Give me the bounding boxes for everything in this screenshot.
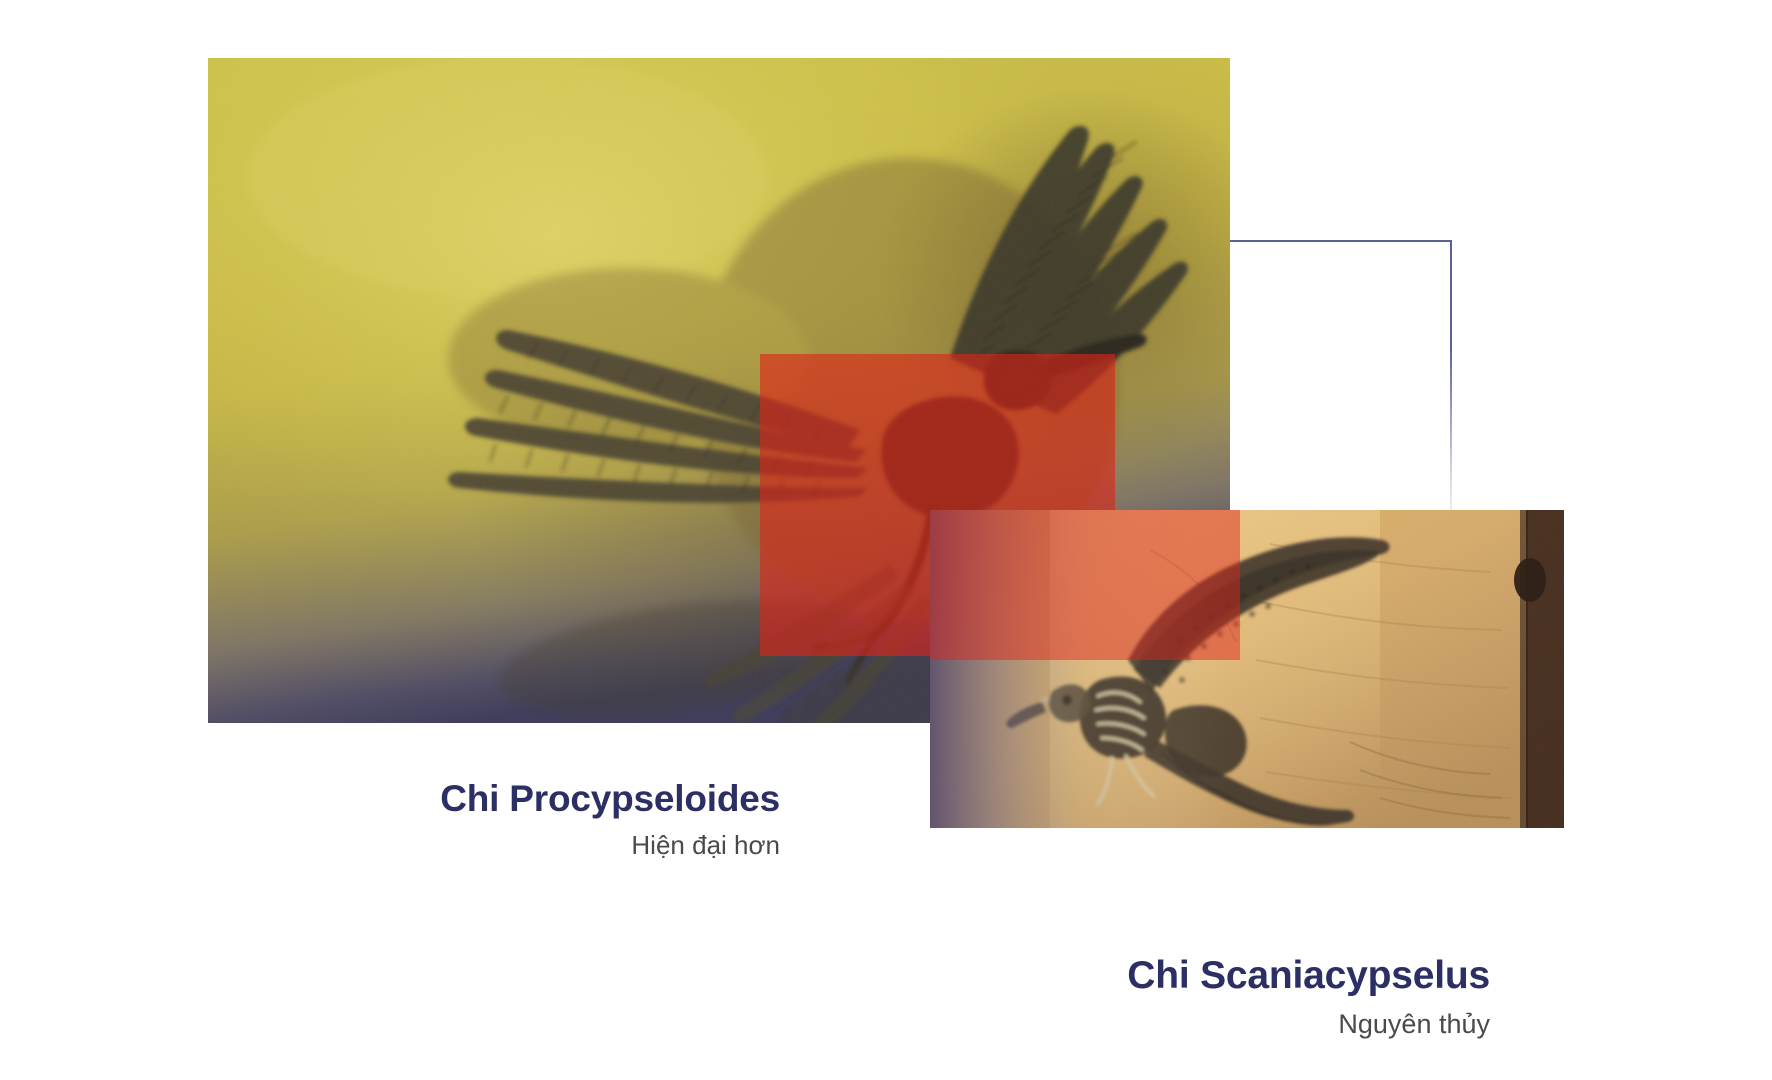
caption-scaniacypselus-title: Chi Scaniacypselus [770,955,1490,996]
figure-stage: Chi Procypseloides Hiện đại hơn Chi Scan… [0,0,1772,1080]
caption-procypseloides: Chi Procypseloides Hiện đại hơn [280,779,780,860]
caption-scaniacypselus-subtitle: Nguyên thủy [770,1010,1490,1040]
highlight-square-b [930,510,1240,660]
caption-scaniacypselus: Chi Scaniacypselus Nguyên thủy [770,955,1490,1040]
caption-procypseloides-subtitle: Hiện đại hơn [280,831,780,860]
frame-accent-rectangle [1210,240,1452,542]
caption-procypseloides-title: Chi Procypseloides [280,779,780,818]
